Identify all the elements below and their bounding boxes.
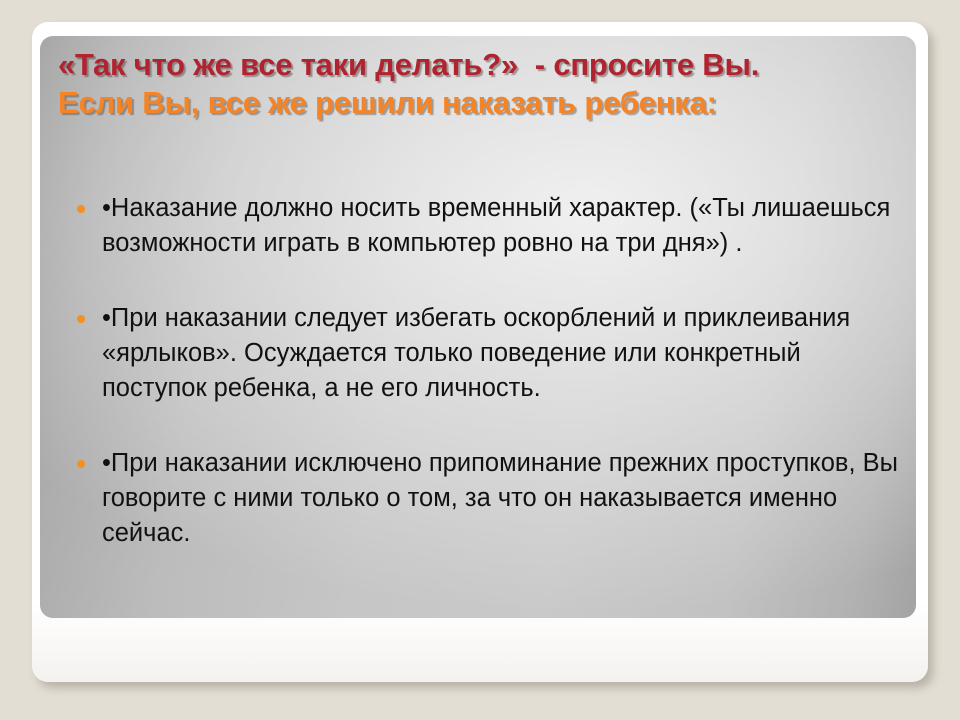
slide-title-block: «Так что же все таки делать?» - спросите… [58, 46, 896, 122]
slide-content-panel: «Так что же все таки делать?» - спросите… [40, 36, 916, 618]
bullet-marker-icon [77, 315, 85, 323]
slide-card: «Так что же все таки делать?» - спросите… [32, 22, 928, 682]
bullet-marker-icon [77, 460, 85, 468]
bullet-text: •При наказании исключено припоминание пр… [102, 446, 904, 551]
bullet-text: •При наказании следует избегать оскорбле… [102, 301, 904, 406]
bullet-item: •При наказании следует избегать оскорбле… [64, 301, 904, 406]
bullet-item: •При наказании исключено припоминание пр… [64, 446, 904, 551]
slide-bullet-list: •Наказание должно носить временный харак… [64, 191, 904, 551]
slide-title-secondary-line: Если Вы, все же решили наказать ребенка: [58, 84, 896, 122]
slide-title-primary-line: «Так что же все таки делать?» - спросите… [58, 46, 896, 84]
bullet-text: •Наказание должно носить временный харак… [102, 191, 904, 261]
bullet-item: •Наказание должно носить временный харак… [64, 191, 904, 261]
bullet-marker-icon [77, 205, 85, 213]
